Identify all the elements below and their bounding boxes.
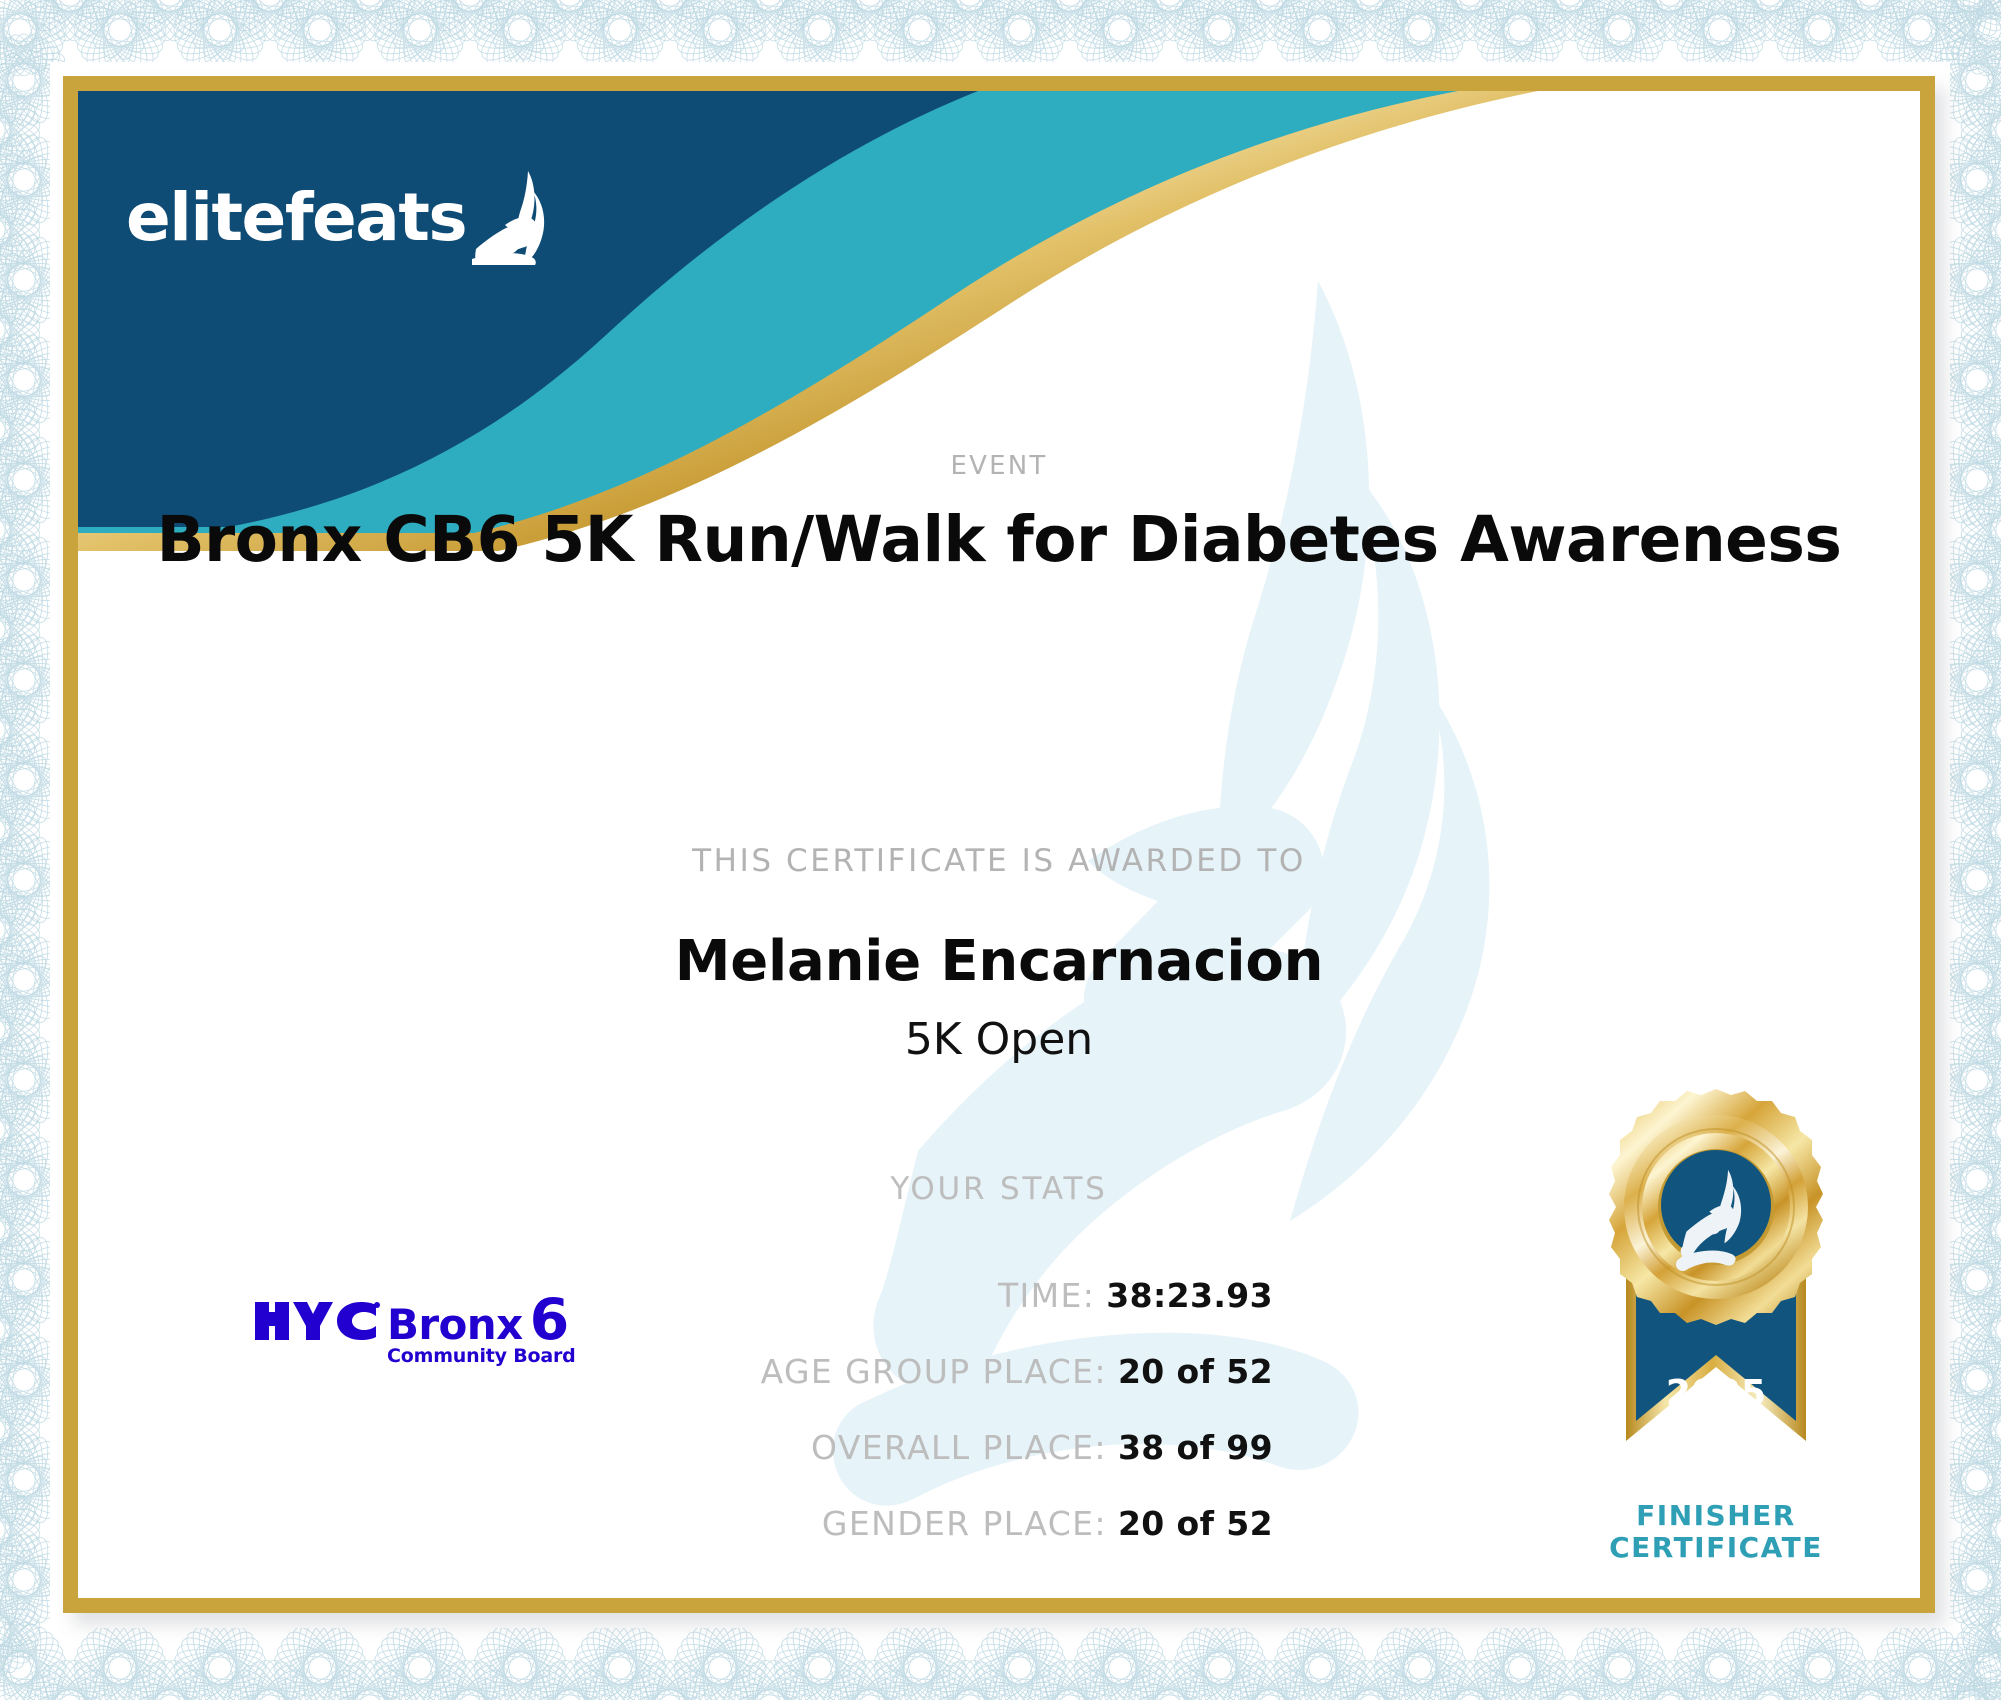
- certificate-body: elitefeats EVENT Bronx CB6 5K Run/Walk f…: [78, 91, 1920, 1598]
- stat-key: GENDER PLACE:: [822, 1504, 1107, 1543]
- badge-caption-line1: FINISHER: [1556, 1500, 1876, 1532]
- stat-value: 38:23.93: [1106, 1276, 1273, 1315]
- sponsor-bronx-label: Bronx: [387, 1304, 523, 1346]
- stat-row-gender-place: GENDER PLACE: 20 of 52: [78, 1504, 1273, 1580]
- event-label: EVENT: [78, 451, 1920, 481]
- stat-row-overall-place: OVERALL PLACE: 38 of 99: [78, 1428, 1273, 1504]
- badge-caption-line2: CERTIFICATE: [1556, 1532, 1876, 1564]
- stat-key: OVERALL PLACE:: [811, 1428, 1107, 1467]
- finisher-badge: 2025 FINISHER CERTIFICATE: [1556, 1089, 1876, 1564]
- certificate-page: elitefeats EVENT Bronx CB6 5K Run/Walk f…: [0, 0, 2001, 1700]
- nyc-wordmark-icon: [253, 1296, 381, 1346]
- stat-value: 20 of 52: [1118, 1504, 1273, 1543]
- stat-key: AGE GROUP PLACE:: [761, 1352, 1107, 1391]
- certificate-gold-frame: elitefeats EVENT Bronx CB6 5K Run/Walk f…: [63, 76, 1935, 1613]
- badge-year-text: 2025: [1666, 1373, 1766, 1414]
- sponsor-bronx-row: Bronx 6: [387, 1298, 576, 1346]
- finisher-medal-ribbon-icon: 2025: [1556, 1089, 1876, 1489]
- badge-caption: FINISHER CERTIFICATE: [1556, 1500, 1876, 1564]
- recipient-division: 5K Open: [78, 1014, 1920, 1065]
- awarded-to-label: THIS CERTIFICATE IS AWARDED TO: [78, 843, 1920, 879]
- stat-key: TIME:: [998, 1276, 1095, 1315]
- sponsor-text-block: Bronx 6 Community Board: [387, 1298, 576, 1366]
- sponsor-community-board-label: Community Board: [387, 1347, 576, 1366]
- sponsor-board-number: 6: [530, 1298, 570, 1344]
- stat-value: 20 of 52: [1118, 1352, 1273, 1391]
- recipient-name: Melanie Encarnacion: [78, 929, 1920, 994]
- event-title: Bronx CB6 5K Run/Walk for Diabetes Aware…: [78, 503, 1920, 576]
- nyc-bronx-cb6-logo: Bronx 6 Community Board: [253, 1296, 576, 1366]
- stat-value: 38 of 99: [1118, 1428, 1273, 1467]
